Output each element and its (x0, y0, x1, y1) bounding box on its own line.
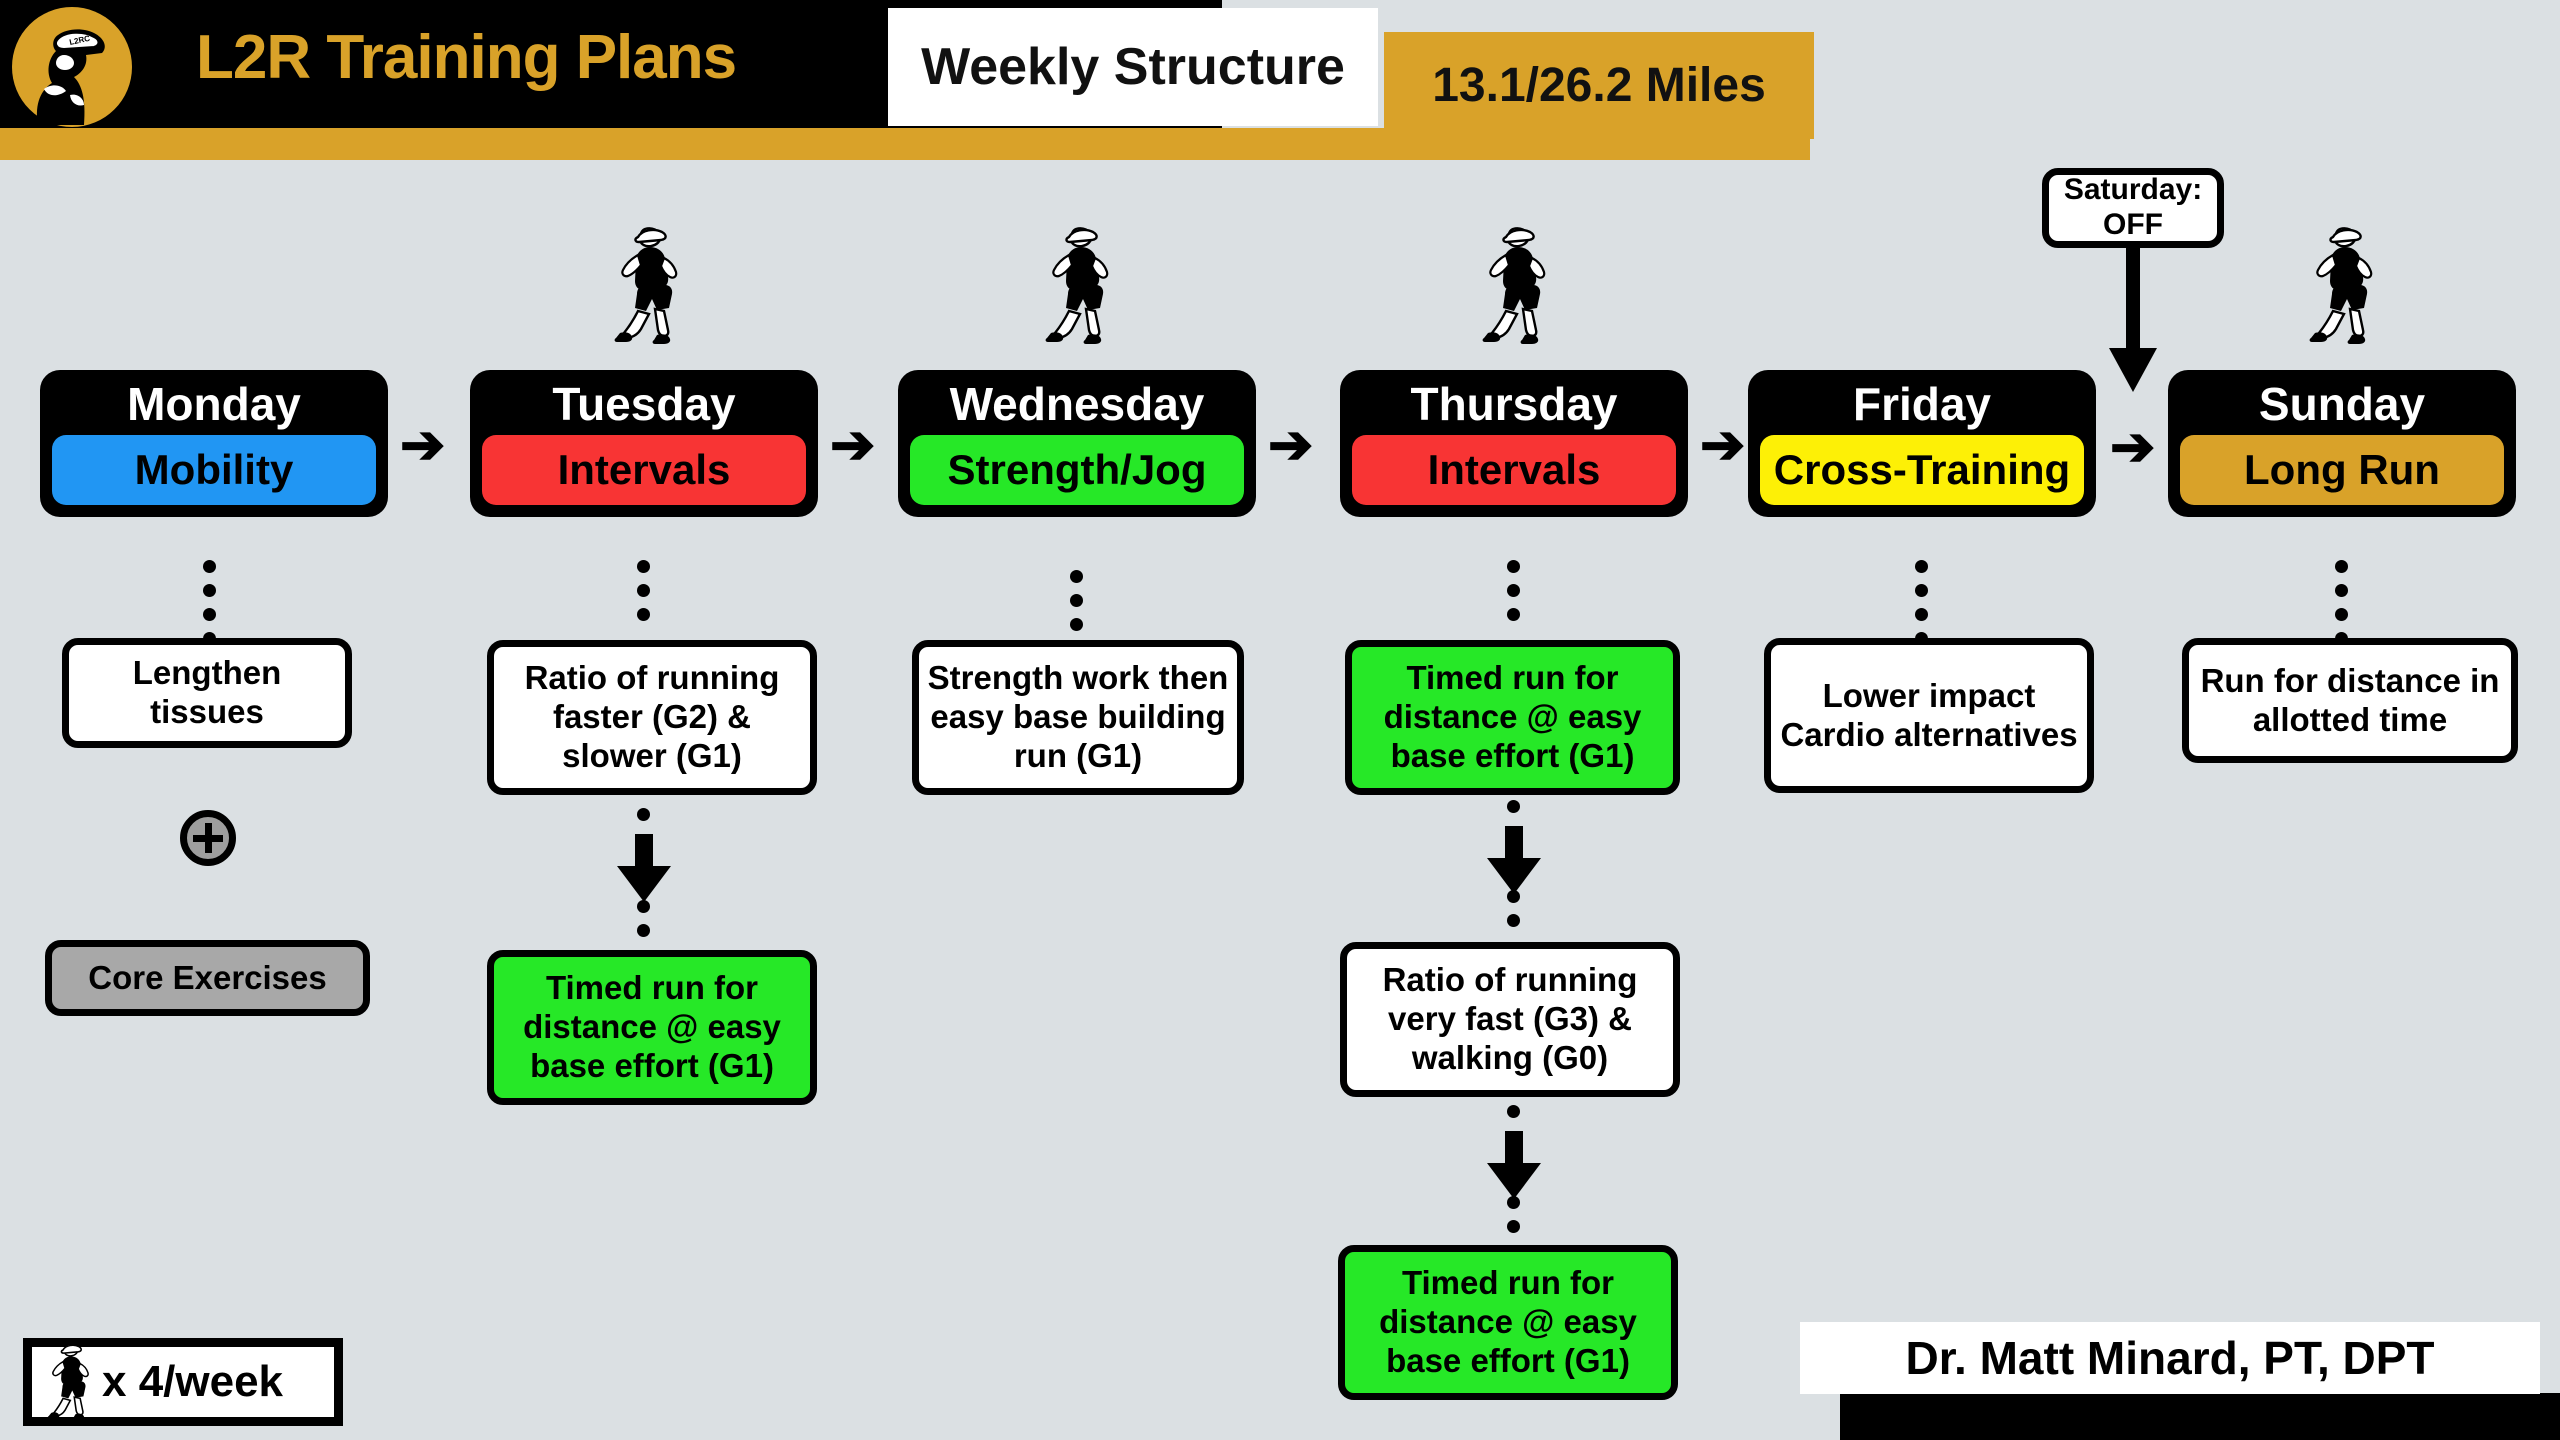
connector-dots-tuesday-1a (637, 808, 650, 821)
note-monday-0: Lengthen tissues (62, 638, 352, 748)
distance-badge: 13.1/26.2 Miles (1384, 32, 1814, 139)
connector-dots-thursday-2b (1507, 1196, 1520, 1233)
day-card-wednesday[interactable]: Wednesday Strength/Jog (898, 370, 1256, 517)
frequency-label: x 4/week (102, 1357, 283, 1407)
runner-icon-wednesday (1043, 225, 1113, 347)
day-focus-label-monday: Mobility (135, 446, 294, 494)
flow-arrow-thu-fri: ➔ (1700, 418, 1745, 472)
section-title: Weekly Structure (921, 37, 1345, 97)
day-focus-wednesday: Strength/Jog (910, 435, 1244, 505)
day-card-sunday[interactable]: Sunday Long Run (2168, 370, 2516, 517)
note-text-monday-0: Lengthen tissues (77, 654, 337, 732)
connector-dots-thursday-0 (1507, 560, 1520, 621)
runner-icon-thursday (1480, 225, 1550, 347)
runner-icon-tuesday (612, 225, 682, 347)
note-thursday-0: Timed run for distance @ easy base effor… (1345, 640, 1680, 795)
note-text-friday-0: Lower impact Cardio alternatives (1779, 677, 2079, 755)
note-wednesday-0: Strength work then easy base building ru… (912, 640, 1244, 795)
distance-badge-label: 13.1/26.2 Miles (1432, 58, 1766, 113)
note-sunday-0: Run for distance in allotted time (2182, 638, 2518, 763)
day-focus-monday: Mobility (52, 435, 376, 505)
note-text-tuesday-0: Ratio of running faster (G2) & slower (G… (502, 659, 802, 776)
saturday-label-line1: Saturday: (2064, 173, 2202, 208)
note-text-tuesday-1: Timed run for distance @ easy base effor… (502, 969, 802, 1086)
connector-dots-thursday-2a (1507, 1105, 1520, 1118)
section-title-box: Weekly Structure (888, 8, 1378, 126)
day-card-tuesday[interactable]: Tuesday Intervals (470, 370, 818, 517)
day-focus-label-friday: Cross-Training (1774, 446, 2070, 494)
day-name-thursday: Thursday (1352, 380, 1676, 429)
frequency-badge: x 4/week (23, 1338, 343, 1426)
day-card-friday[interactable]: Friday Cross-Training (1748, 370, 2096, 517)
day-name-monday: Monday (52, 380, 376, 429)
day-focus-label-sunday: Long Run (2244, 446, 2440, 494)
connector-dots-monday (203, 560, 216, 645)
runner-icon (46, 1342, 92, 1422)
saturday-label-line2: OFF (2064, 208, 2202, 243)
day-card-thursday[interactable]: Thursday Intervals (1340, 370, 1688, 517)
day-name-wednesday: Wednesday (910, 380, 1244, 429)
flow-arrow-wed-thu: ➔ (1268, 418, 1313, 472)
day-card-monday[interactable]: Monday Mobility (40, 370, 388, 517)
note-monday-1: Core Exercises (45, 940, 370, 1016)
plus-circle-icon (180, 810, 236, 866)
flow-arrow-tue-wed: ➔ (830, 418, 875, 472)
day-name-tuesday: Tuesday (482, 380, 806, 429)
note-text-monday-1: Core Exercises (88, 959, 327, 998)
note-thursday-1: Ratio of running very fast (G3) & walkin… (1340, 942, 1680, 1097)
flow-arrow-mon-tue: ➔ (400, 418, 445, 472)
connector-dots-tuesday-0 (637, 560, 650, 621)
note-tuesday-1: Timed run for distance @ easy base effor… (487, 950, 817, 1105)
note-thursday-2: Timed run for distance @ easy base effor… (1338, 1245, 1678, 1400)
saturday-off-callout: Saturday: OFF (2042, 168, 2224, 248)
connector-dots-friday (1915, 560, 1928, 645)
note-text-thursday-0: Timed run for distance @ easy base effor… (1360, 659, 1665, 776)
day-focus-label-wednesday: Strength/Jog (948, 446, 1207, 494)
connector-dots-sunday (2335, 560, 2348, 645)
runner-logo-icon: L2RC (8, 3, 136, 131)
connector-dots-thursday-1a (1507, 800, 1520, 813)
credit-box: Dr. Matt Minard, PT, DPT (1800, 1322, 2540, 1394)
day-name-friday: Friday (1760, 380, 2084, 429)
day-focus-label-thursday: Intervals (1428, 446, 1601, 494)
day-focus-thursday: Intervals (1352, 435, 1676, 505)
note-text-sunday-0: Run for distance in allotted time (2197, 662, 2503, 740)
note-text-thursday-2: Timed run for distance @ easy base effor… (1353, 1264, 1663, 1381)
note-text-wednesday-0: Strength work then easy base building ru… (927, 659, 1229, 776)
day-name-sunday: Sunday (2180, 380, 2504, 429)
day-focus-label-tuesday: Intervals (558, 446, 731, 494)
day-focus-friday: Cross-Training (1760, 435, 2084, 505)
connector-dots-tuesday-1b (637, 900, 650, 937)
page-title: L2R Training Plans (196, 22, 736, 93)
credit-shadow-bar (1840, 1393, 2560, 1440)
note-friday-0: Lower impact Cardio alternatives (1764, 638, 2094, 793)
note-text-thursday-1: Ratio of running very fast (G3) & walkin… (1355, 961, 1665, 1078)
note-tuesday-0: Ratio of running faster (G2) & slower (G… (487, 640, 817, 795)
connector-dots-thursday-1b (1507, 890, 1520, 927)
day-focus-sunday: Long Run (2180, 435, 2504, 505)
runner-icon-sunday (2307, 225, 2377, 347)
credit-label: Dr. Matt Minard, PT, DPT (1905, 1331, 2434, 1385)
day-focus-tuesday: Intervals (482, 435, 806, 505)
flow-arrow-fri-sun: ➔ (2110, 420, 2155, 474)
